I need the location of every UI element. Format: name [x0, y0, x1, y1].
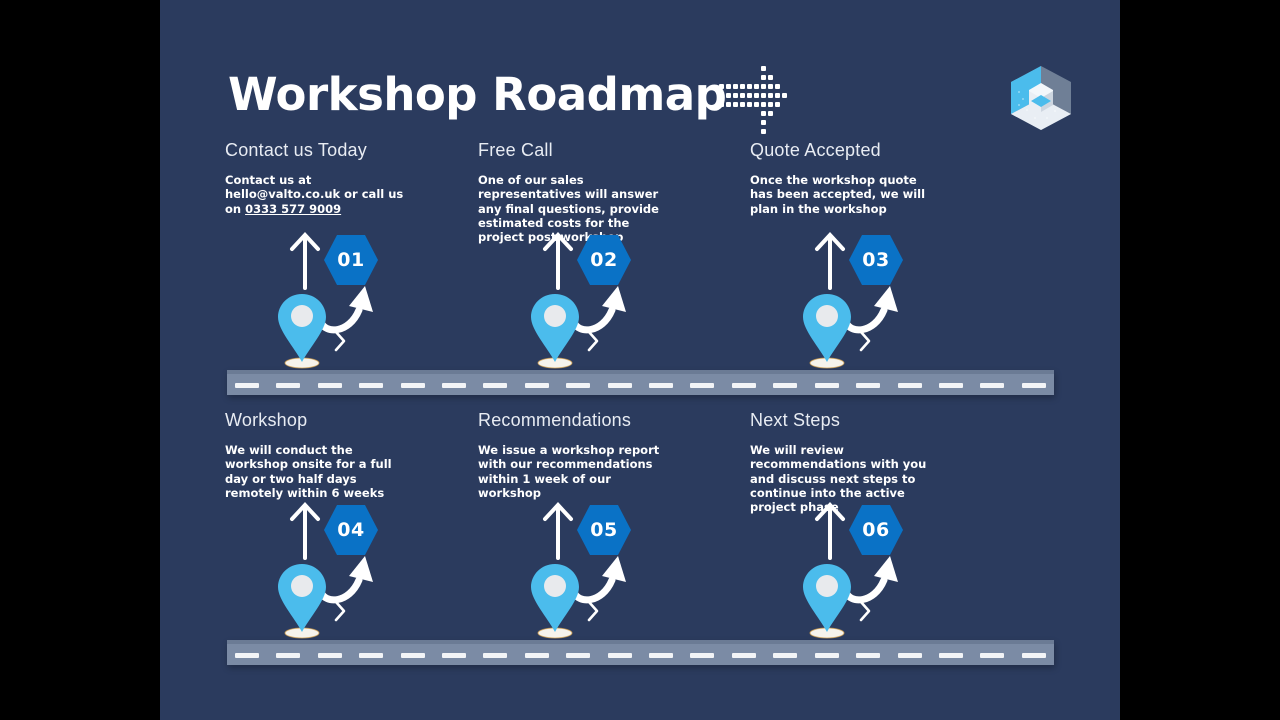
step-title: Workshop	[225, 410, 497, 431]
map-pin-icon	[801, 562, 853, 640]
step-marker: 03	[798, 230, 958, 370]
roadmap-slide: Workshop Roadmap	[160, 0, 1120, 720]
step-marker: 05	[526, 500, 686, 640]
road-dashes	[235, 383, 1046, 388]
up-arrow-icon	[538, 500, 578, 560]
step-title: Quote Accepted	[750, 140, 1022, 161]
curved-arrow-icon	[319, 282, 381, 336]
map-pin-icon	[276, 292, 328, 370]
curved-arrow-icon	[319, 552, 381, 606]
step-06[interactable]: Next Steps We will review recommendation…	[750, 410, 1022, 514]
road-bottom	[227, 640, 1054, 665]
up-arrow-icon	[810, 500, 850, 560]
step-title: Next Steps	[750, 410, 1022, 431]
step-marker: 01	[273, 230, 433, 370]
chevron-right-icon	[584, 328, 602, 354]
chevron-right-icon	[331, 328, 349, 354]
step-description: Contact us at hello@valto.co.uk or call …	[225, 173, 415, 216]
chevron-right-icon	[856, 598, 874, 624]
up-arrow-icon	[810, 230, 850, 290]
curved-arrow-icon	[844, 282, 906, 336]
letterbox-right	[1120, 0, 1280, 720]
step-number: 01	[323, 232, 379, 288]
map-pin-icon	[801, 292, 853, 370]
step-05[interactable]: Recommendations We issue a workshop repo…	[478, 410, 750, 500]
map-pin-icon	[529, 562, 581, 640]
letterbox-left	[0, 0, 160, 720]
road-dashes	[235, 653, 1046, 658]
step-04[interactable]: Workshop We will conduct the workshop on…	[225, 410, 497, 500]
step-marker: 04	[273, 500, 433, 640]
curved-arrow-icon	[844, 552, 906, 606]
step-number: 03	[848, 232, 904, 288]
up-arrow-icon	[538, 230, 578, 290]
step-title: Contact us Today	[225, 140, 497, 161]
step-number: 04	[323, 502, 379, 558]
step-03[interactable]: Quote Accepted Once the workshop quote h…	[750, 140, 1022, 216]
chevron-right-icon	[331, 598, 349, 624]
roadmap-row-bottom: Workshop We will conduct the workshop on…	[160, 410, 1120, 670]
up-arrow-icon	[285, 230, 325, 290]
step-description: We issue a workshop report with our reco…	[478, 443, 668, 500]
dot-arrow-icon	[717, 62, 787, 134]
chevron-right-icon	[584, 598, 602, 624]
curved-arrow-icon	[572, 282, 634, 336]
step-description: We will conduct the workshop onsite for …	[225, 443, 415, 500]
step-description: Once the workshop quote has been accepte…	[750, 173, 940, 216]
valto-cube-logo	[1005, 62, 1077, 134]
step-number: 06	[848, 502, 904, 558]
step-number: 02	[576, 232, 632, 288]
slide-stage: Workshop Roadmap	[0, 0, 1280, 720]
step-number: 05	[576, 502, 632, 558]
step-title: Recommendations	[478, 410, 750, 431]
phone-number-link[interactable]: 0333 577 9009	[245, 202, 341, 216]
page-title: Workshop Roadmap	[228, 68, 726, 121]
chevron-right-icon	[856, 328, 874, 354]
step-02[interactable]: Free Call One of our sales representativ…	[478, 140, 750, 244]
step-marker: 06	[798, 500, 958, 640]
step-title: Free Call	[478, 140, 750, 161]
roadmap-row-top: Contact us Today Contact us at hello@val…	[160, 140, 1120, 400]
step-01[interactable]: Contact us Today Contact us at hello@val…	[225, 140, 497, 216]
up-arrow-icon	[285, 500, 325, 560]
map-pin-icon	[529, 292, 581, 370]
step-marker: 02	[526, 230, 686, 370]
curved-arrow-icon	[572, 552, 634, 606]
road-top	[227, 370, 1054, 395]
map-pin-icon	[276, 562, 328, 640]
